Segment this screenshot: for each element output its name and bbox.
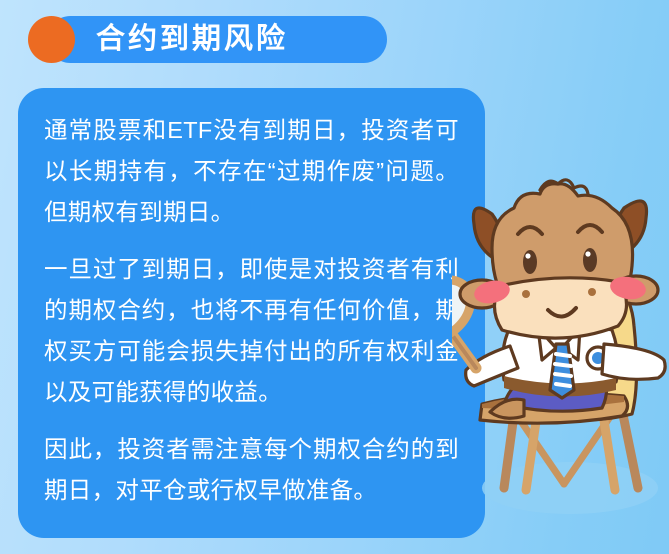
banner-dot-icon [28, 16, 75, 63]
page-title: 合约到期风险 [96, 16, 288, 63]
infographic-slide: 合约到期风险 通常股票和ETF没有到期日，投资者可以长期持有，不存在“过期作废”… [0, 0, 669, 554]
title-banner: 合约到期风险 [28, 16, 387, 63]
muzzle [494, 278, 626, 338]
content-card: 通常股票和ETF没有到期日，投资者可以长期持有，不存在“过期作废”问题。但期权有… [18, 88, 485, 538]
mascot-illustration [452, 168, 669, 554]
right-arm [602, 344, 665, 379]
paragraph-1: 通常股票和ETF没有到期日，投资者可以长期持有，不存在“过期作废”问题。但期权有… [44, 110, 459, 233]
tie [550, 344, 574, 398]
paragraph-2: 一旦过了到期日，即使是对投资者有利的期权合约，也将不再有任何价值，期权买方可能会… [44, 249, 459, 413]
paragraph-3: 因此，投资者需注意每个期权合约的到期日，对平仓或行权早做准备。 [44, 429, 459, 511]
